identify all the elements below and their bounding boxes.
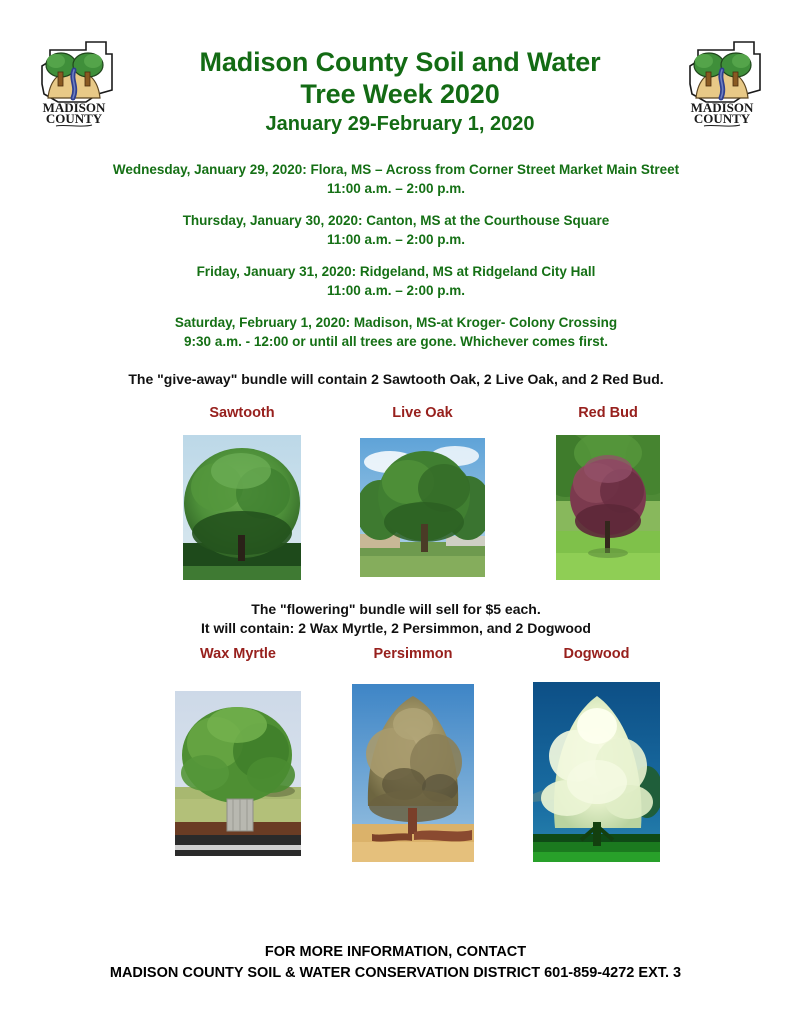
event-item: Wednesday, January 29, 2020: Flora, MS –… [46,160,746,198]
tree-cell-dogwood: Dogwood [533,645,660,862]
event-item: Thursday, January 30, 2020: Canton, MS a… [46,211,746,249]
flyer-page: MADISON COUNTY Madison County Soil and W… [0,0,791,1024]
tree-photo-live-oak [360,438,485,577]
title-line-2: Tree Week 2020 [130,78,670,110]
flowering-bundle-note: The "flowering" bundle will sell for $5 … [46,600,746,638]
event-location-line: Thursday, January 30, 2020: Canton, MS a… [46,211,746,230]
tree-label: Persimmon [352,645,474,663]
madison-county-logo-right: MADISON COUNTY [676,32,768,128]
logo-text-line2: COUNTY [694,111,751,126]
footer-line-1: FOR MORE INFORMATION, CONTACT [20,942,771,963]
tree-cell-sawtooth: Sawtooth [183,404,301,580]
event-time-line: 11:00 a.m. – 2:00 p.m. [46,230,746,249]
tree-label: Dogwood [533,645,660,663]
tree-photo-sawtooth [183,435,301,580]
giveaway-note-line: The "give-away" bundle will contain 2 Sa… [46,370,746,389]
tree-cell-wax-myrtle: Wax Myrtle [175,645,301,856]
flowering-note-line-2: It will contain: 2 Wax Myrtle, 2 Persimm… [46,619,746,638]
tree-label: Sawtooth [183,404,301,422]
tree-label: Red Bud [556,404,660,422]
madison-county-logo-left: MADISON COUNTY [28,32,120,128]
title-line-3: January 29-February 1, 2020 [130,111,670,138]
event-time-line: 9:30 a.m. - 12:00 or until all trees are… [46,332,746,351]
tree-cell-red-bud: Red Bud [556,404,660,580]
tree-photo-persimmon [352,684,474,862]
tree-photo-wax-myrtle [175,691,301,856]
tree-photo-dogwood [533,682,660,862]
giveaway-bundle-note: The "give-away" bundle will contain 2 Sa… [46,370,746,389]
event-schedule-list: Wednesday, January 29, 2020: Flora, MS –… [46,160,746,364]
tree-label: Wax Myrtle [175,645,301,663]
footer-line-2: MADISON COUNTY SOIL & WATER CONSERVATION… [20,963,771,984]
page-title: Madison County Soil and Water Tree Week … [130,46,670,138]
event-item: Saturday, February 1, 2020: Madison, MS-… [46,313,746,351]
tree-photo-red-bud [556,435,660,580]
event-item: Friday, January 31, 2020: Ridgeland, MS … [46,262,746,300]
event-location-line: Saturday, February 1, 2020: Madison, MS-… [46,313,746,332]
title-line-1: Madison County Soil and Water [130,46,670,78]
flowering-note-line-1: The "flowering" bundle will sell for $5 … [46,600,746,619]
event-location-line: Wednesday, January 29, 2020: Flora, MS –… [46,160,746,179]
logo-text-line2: COUNTY [46,111,103,126]
contact-footer: FOR MORE INFORMATION, CONTACT MADISON CO… [20,942,771,984]
tree-label: Live Oak [360,404,485,422]
event-location-line: Friday, January 31, 2020: Ridgeland, MS … [46,262,746,281]
tree-cell-live-oak: Live Oak [360,404,485,577]
tree-cell-persimmon: Persimmon [352,645,474,862]
event-time-line: 11:00 a.m. – 2:00 p.m. [46,179,746,198]
event-time-line: 11:00 a.m. – 2:00 p.m. [46,281,746,300]
